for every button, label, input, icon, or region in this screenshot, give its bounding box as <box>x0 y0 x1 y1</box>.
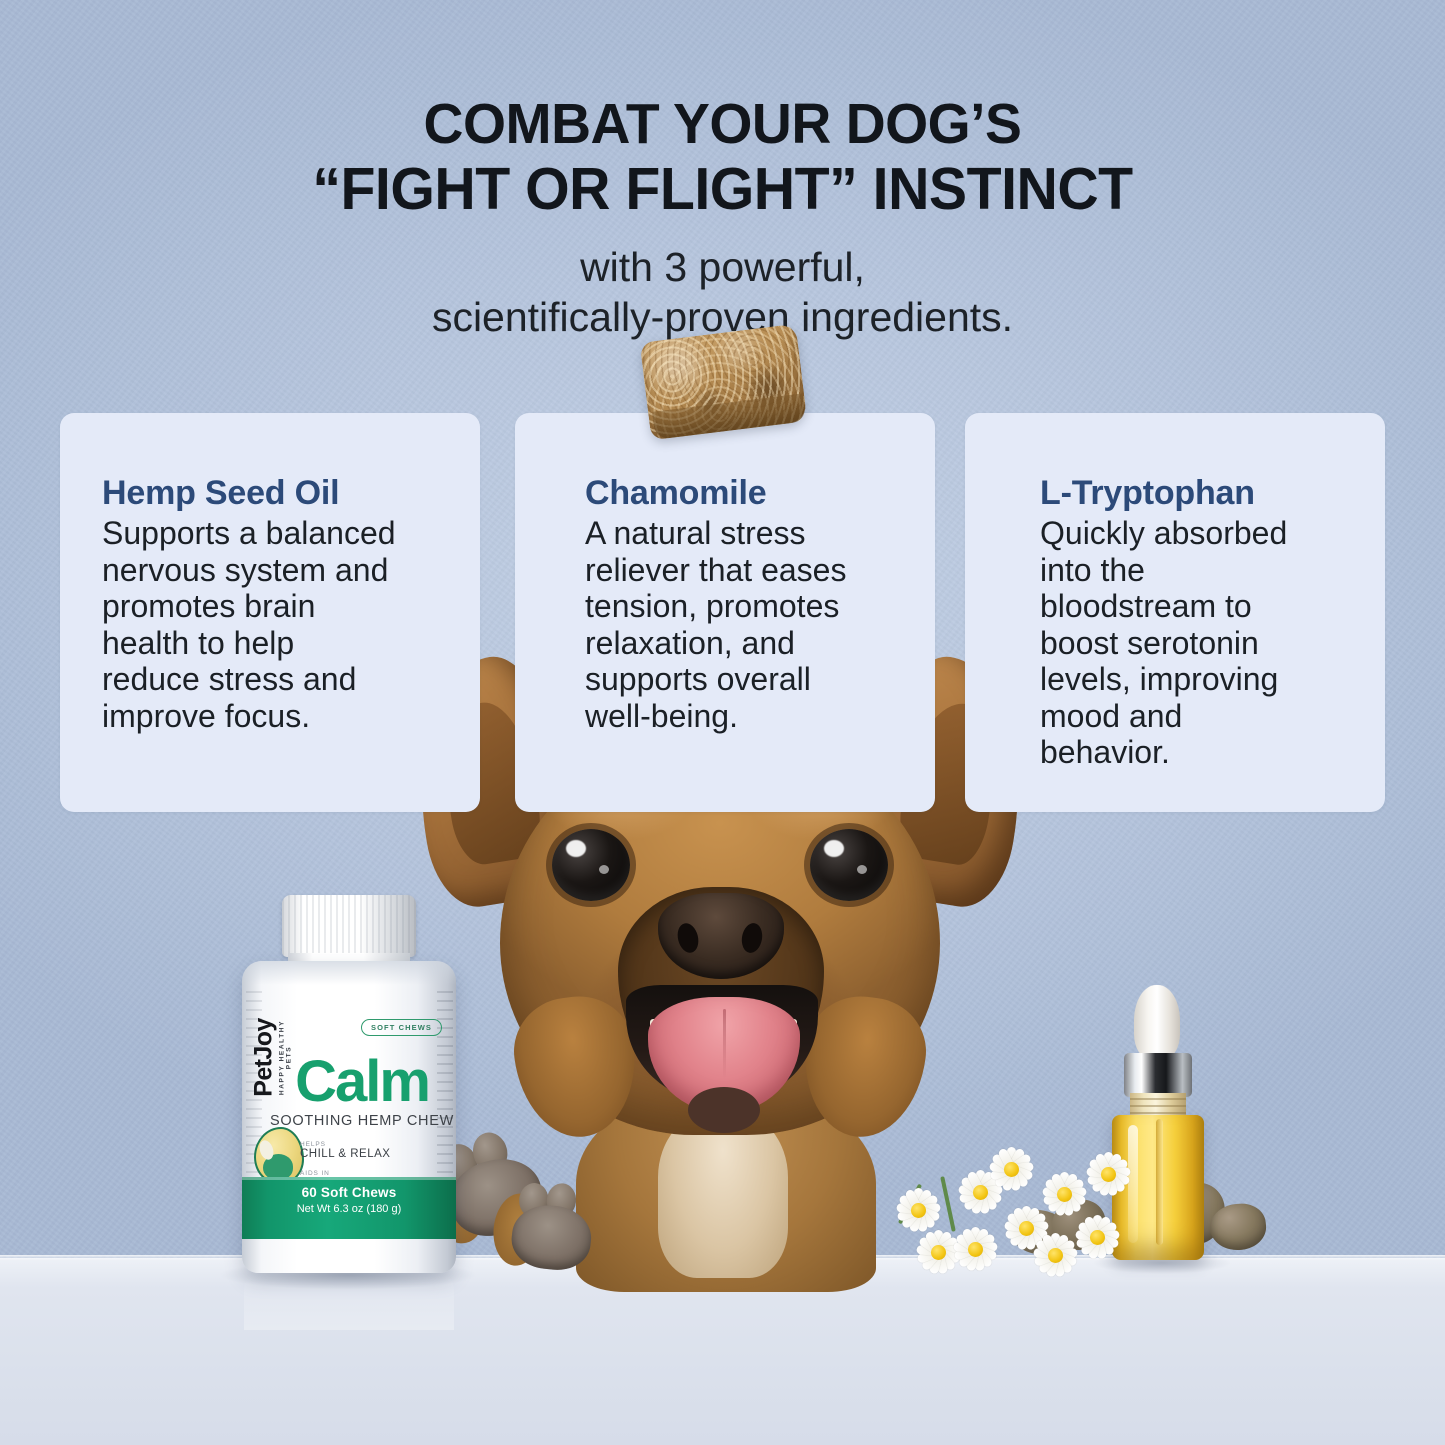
chamomile-flowers-image <box>890 1130 1170 1275</box>
chamomile-flower <box>1072 1212 1122 1262</box>
thread-ring <box>1130 1105 1186 1107</box>
ingredient-title: Chamomile <box>585 473 893 513</box>
dog-chest-bib <box>658 1110 788 1278</box>
eye-highlight <box>824 840 844 857</box>
eye-highlight <box>566 840 586 857</box>
card-inner: L-Tryptophan Quickly absorbed into the b… <box>965 413 1385 771</box>
flower-center <box>1019 1221 1034 1236</box>
subheadline-line-1: with 3 powerful, <box>0 242 1445 292</box>
net-weight: Net Wt 6.3 oz (180 g) <box>242 1203 456 1215</box>
thread-ring <box>1130 1112 1186 1114</box>
chamomile-flower <box>1040 1170 1088 1218</box>
flower-center <box>968 1242 983 1257</box>
headline-line-1: COMBAT YOUR DOG’S <box>22 96 1424 153</box>
ingredient-card-hemp-seed-oil: Hemp Seed Oil Supports a balanced nervou… <box>60 413 480 812</box>
flower-center <box>1101 1167 1116 1182</box>
tongue-shadow <box>688 1087 760 1133</box>
flower-center <box>1048 1248 1063 1263</box>
ingredient-card-chamomile: Chamomile A natural stress reliever that… <box>515 413 935 812</box>
chamomile-flower <box>952 1226 998 1272</box>
dog-paw-lower <box>503 1181 605 1280</box>
soft-chews-badge: SOFT CHEWS <box>361 1019 442 1036</box>
flower-center <box>911 1203 926 1218</box>
tongue-crease <box>723 1009 726 1079</box>
chew-count: 60 Soft Chews <box>242 1185 456 1200</box>
dropper-bulb <box>1134 985 1180 1059</box>
ingredient-description: Quickly absorbed into the bloodstream to… <box>1040 515 1343 771</box>
flower-center <box>931 1245 946 1260</box>
flower-center <box>1004 1162 1019 1177</box>
chamomile-flower <box>1034 1234 1076 1276</box>
claim-kicker: HELPS <box>300 1141 450 1148</box>
ingredient-title: Hemp Seed Oil <box>102 473 438 513</box>
card-inner: Chamomile A natural stress reliever that… <box>515 413 935 734</box>
headline-block: COMBAT YOUR DOG’S “FIGHT OR FLIGHT” INST… <box>0 96 1445 342</box>
bottle-body: SOFT CHEWS PetJoy HAPPY HEALTHY PETS Cal… <box>242 961 456 1273</box>
dog-eye-right <box>810 829 888 901</box>
dropper-collar <box>1124 1053 1192 1097</box>
calm-supplement-bottle-image: SOFT CHEWS PetJoy HAPPY HEALTHY PETS Cal… <box>238 895 460 1277</box>
chamomile-flower <box>896 1188 940 1232</box>
chamomile-flower <box>1086 1152 1130 1196</box>
eye-highlight-small <box>857 865 867 874</box>
ingredient-card-l-tryptophan: L-Tryptophan Quickly absorbed into the b… <box>965 413 1385 812</box>
product-infographic: COMBAT YOUR DOG’S “FIGHT OR FLIGHT” INST… <box>0 0 1445 1445</box>
flower-center <box>1057 1187 1072 1202</box>
band-text: 60 Soft Chews Net Wt 6.3 oz (180 g) <box>242 1185 456 1215</box>
eye-highlight-small <box>599 865 609 874</box>
product-name: Calm <box>242 1053 456 1111</box>
bottle-cap <box>282 895 416 957</box>
dog-nostril-left <box>675 921 702 955</box>
card-inner: Hemp Seed Oil Supports a balanced nervou… <box>60 413 480 734</box>
dog-eye-left <box>552 829 630 901</box>
claim-value: CHILL & RELAX <box>300 1148 450 1161</box>
soft-chew-treat-image <box>640 324 808 440</box>
label-green-band: 60 Soft Chews Net Wt 6.3 oz (180 g) <box>242 1177 456 1239</box>
label-claim: HELPS CHILL & RELAX <box>300 1141 450 1161</box>
bottle-label: SOFT CHEWS PetJoy HAPPY HEALTHY PETS Cal… <box>242 985 456 1273</box>
headline-line-2: “FIGHT OR FLIGHT” INSTINCT <box>22 161 1424 218</box>
dog-nostril-right <box>740 921 765 954</box>
thread-ring <box>1130 1098 1186 1100</box>
dog-tongue <box>648 997 800 1113</box>
ingredient-title: L-Tryptophan <box>1040 473 1343 513</box>
chamomile-flower <box>986 1144 1036 1194</box>
band-top-rule <box>242 1177 456 1180</box>
flower-center <box>1090 1230 1105 1245</box>
ingredient-description: A natural stress reliever that eases ten… <box>585 515 893 734</box>
claim-kicker: AIDS IN <box>300 1170 450 1177</box>
bottle-shoulder <box>242 961 456 985</box>
product-subtitle: SOOTHING HEMP CHEW <box>242 1113 456 1129</box>
ingredient-description: Supports a balanced nervous system and p… <box>102 515 438 734</box>
cap-ridges <box>282 895 416 957</box>
